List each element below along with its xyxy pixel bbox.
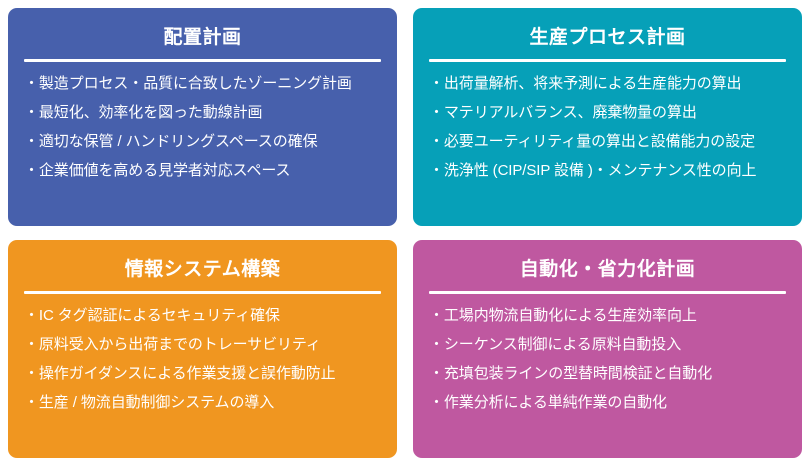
title-divider <box>24 291 381 294</box>
list-item-label: 適切な保管 / ハンドリングスペースの確保 <box>39 133 318 150</box>
list-item: ・操作ガイダンスによる作業支援と誤作動防止 <box>24 359 381 388</box>
list-item-label: 生産 / 物流自動制御システムの導入 <box>39 394 274 411</box>
list-item: ・企業価値を高める見学者対応スペース <box>24 156 381 185</box>
bullet-list: ・工場内物流自動化による生産効率向上 ・シーケンス制御による原料自動投入 ・充填… <box>429 301 786 448</box>
list-item-label: マテリアルバランス、廃棄物量の算出 <box>444 104 697 121</box>
four-panel-diagram: 配置計画 ・製造プロセス・品質に合致したゾーニング計画 ・最短化、効率化を図った… <box>0 0 810 466</box>
panel-title: 配置計画 <box>24 26 381 50</box>
list-item-label: 製造プロセス・品質に合致したゾーニング計画 <box>39 75 352 92</box>
bullet-marker: ・ <box>24 133 39 150</box>
list-item: ・洗浄性 (CIP/SIP 設備 )・メンテナンス性の向上 <box>429 156 786 185</box>
list-item-label: 企業価値を高める見学者対応スペース <box>39 162 291 179</box>
panel-production-process-plan: 生産プロセス計画 ・出荷量解析、将来予測による生産能力の算出 ・マテリアルバラン… <box>413 8 802 226</box>
bullet-marker: ・ <box>24 394 39 411</box>
bullet-marker: ・ <box>429 133 444 150</box>
list-item-label: 原料受入から出荷までのトレーサビリティ <box>39 336 321 353</box>
list-item: ・シーケンス制御による原料自動投入 <box>429 330 786 359</box>
list-item: ・最短化、効率化を図った動線計画 <box>24 98 381 127</box>
list-item: ・必要ユーティリティ量の算出と設備能力の設定 <box>429 127 786 156</box>
list-item: ・出荷量解析、将来予測による生産能力の算出 <box>429 69 786 98</box>
panel-information-system-construction: 情報システム構築 ・IC タグ認証によるセキュリティ確保 ・原料受入から出荷まで… <box>8 240 397 458</box>
list-item: ・製造プロセス・品質に合致したゾーニング計画 <box>24 69 381 98</box>
list-item-label: 作業分析による単純作業の自動化 <box>444 394 667 411</box>
bullet-marker: ・ <box>429 394 444 411</box>
bullet-marker: ・ <box>429 104 444 121</box>
list-item-label: IC タグ認証によるセキュリティ確保 <box>39 307 280 324</box>
list-item-label: シーケンス制御による原料自動投入 <box>444 336 681 353</box>
bullet-marker: ・ <box>429 307 444 324</box>
bullet-list: ・製造プロセス・品質に合致したゾーニング計画 ・最短化、効率化を図った動線計画 … <box>24 69 381 216</box>
bullet-marker: ・ <box>24 104 39 121</box>
bullet-marker: ・ <box>429 336 444 353</box>
bullet-list: ・出荷量解析、将来予測による生産能力の算出 ・マテリアルバランス、廃棄物量の算出… <box>429 69 786 216</box>
bullet-marker: ・ <box>429 365 444 382</box>
bullet-list: ・IC タグ認証によるセキュリティ確保 ・原料受入から出荷までのトレーサビリティ… <box>24 301 381 448</box>
bullet-marker: ・ <box>24 336 39 353</box>
bullet-marker: ・ <box>24 307 39 324</box>
panel-title: 生産プロセス計画 <box>429 26 786 50</box>
list-item-label: 最短化、効率化を図った動線計画 <box>39 104 263 121</box>
list-item: ・工場内物流自動化による生産効率向上 <box>429 301 786 330</box>
bullet-marker: ・ <box>24 162 39 179</box>
list-item-label: 必要ユーティリティ量の算出と設備能力の設定 <box>444 133 755 150</box>
list-item: ・作業分析による単純作業の自動化 <box>429 388 786 417</box>
bullet-marker: ・ <box>24 365 39 382</box>
list-item-label: 操作ガイダンスによる作業支援と誤作動防止 <box>39 365 336 382</box>
list-item: ・原料受入から出荷までのトレーサビリティ <box>24 330 381 359</box>
list-item: ・適切な保管 / ハンドリングスペースの確保 <box>24 127 381 156</box>
bullet-marker: ・ <box>429 162 444 179</box>
list-item-label: 工場内物流自動化による生産効率向上 <box>444 307 697 324</box>
bullet-marker: ・ <box>429 75 444 92</box>
title-divider <box>429 291 786 294</box>
list-item: ・マテリアルバランス、廃棄物量の算出 <box>429 98 786 127</box>
panel-title: 自動化・省力化計画 <box>429 258 786 282</box>
list-item-label: 洗浄性 (CIP/SIP 設備 )・メンテナンス性の向上 <box>444 162 756 179</box>
bullet-marker: ・ <box>24 75 39 92</box>
panel-title: 情報システム構築 <box>24 258 381 282</box>
list-item-label: 出荷量解析、将来予測による生産能力の算出 <box>444 75 742 92</box>
panel-automation-labor-saving-plan: 自動化・省力化計画 ・工場内物流自動化による生産効率向上 ・シーケンス制御による… <box>413 240 802 458</box>
panel-layout-plan: 配置計画 ・製造プロセス・品質に合致したゾーニング計画 ・最短化、効率化を図った… <box>8 8 397 226</box>
list-item: ・IC タグ認証によるセキュリティ確保 <box>24 301 381 330</box>
title-divider <box>24 59 381 62</box>
list-item: ・生産 / 物流自動制御システムの導入 <box>24 388 381 417</box>
list-item-label: 充填包装ラインの型替時間検証と自動化 <box>444 365 712 382</box>
list-item: ・充填包装ラインの型替時間検証と自動化 <box>429 359 786 388</box>
title-divider <box>429 59 786 62</box>
